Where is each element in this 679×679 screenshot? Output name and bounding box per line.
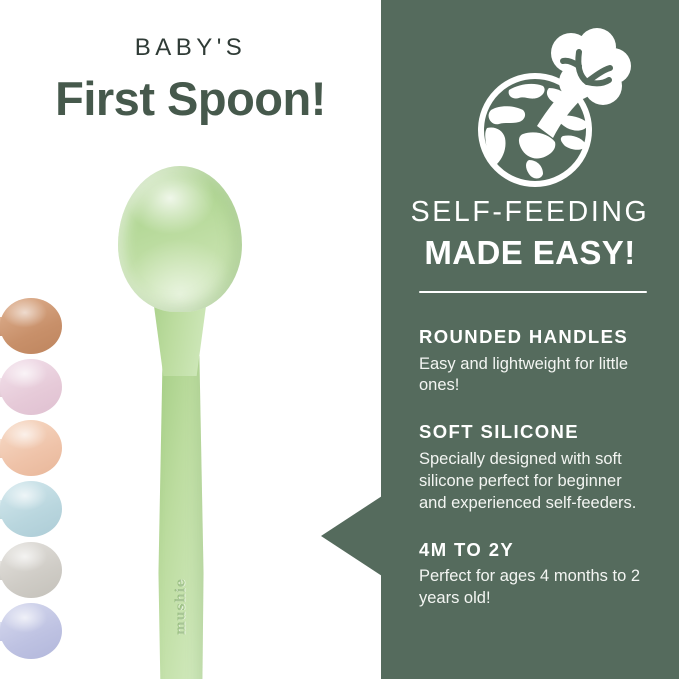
color-swatch-spoon <box>0 481 62 539</box>
feature-list: ROUNDED HANDLES Easy and lightweight for… <box>419 328 651 610</box>
left-panel: BABY'S First Spoon! <box>0 0 381 679</box>
globe-broccoli-icon <box>463 18 633 190</box>
color-swatch-spoon <box>0 542 62 600</box>
headline-block: BABY'S First Spoon! <box>0 36 381 125</box>
spoon-bowl-icon <box>0 359 62 415</box>
feature-item: 4M TO 2Y Perfect for ages 4 months to 2 … <box>419 541 651 610</box>
color-swatch-spoon <box>0 603 62 661</box>
color-swatch-spoon <box>0 420 62 478</box>
spoon-bowl <box>118 166 242 312</box>
brand-line-2: MADE EASY! <box>381 236 679 269</box>
spoon-bowl-icon <box>0 603 62 659</box>
spoon-bowl-icon <box>0 298 62 354</box>
feature-body: Perfect for ages 4 months to 2 years old… <box>419 566 651 610</box>
feature-title: ROUNDED HANDLES <box>419 328 651 347</box>
feature-body: Easy and lightweight for little ones! <box>419 354 651 398</box>
spoon-bowl-icon <box>0 481 62 537</box>
brand-heading: SELF-FEEDING MADE EASY! <box>381 198 679 269</box>
feature-title: 4M TO 2Y <box>419 541 651 560</box>
spoon-bowl-icon <box>0 420 62 476</box>
page-title: First Spoon! <box>0 74 381 125</box>
eyebrow-text: BABY'S <box>0 36 381 60</box>
spoon-bowl-icon <box>0 542 62 598</box>
color-swatch-rail <box>0 298 62 658</box>
product-infographic: BABY'S First Spoon! <box>0 0 679 679</box>
spoon-brand-emboss-text: mushie <box>174 579 189 636</box>
brand-line-1: SELF-FEEDING <box>381 198 679 227</box>
feature-title: SOFT SILICONE <box>419 423 651 442</box>
feature-body: Specially designed with soft silicone pe… <box>419 449 651 515</box>
feature-item: ROUNDED HANDLES Easy and lightweight for… <box>419 328 651 397</box>
color-swatch-spoon <box>0 359 62 417</box>
spoon-brand-emboss: mushie <box>156 542 206 672</box>
hero-spoon-image: mushie <box>118 166 244 679</box>
color-swatch-spoon <box>0 298 62 356</box>
feature-item: SOFT SILICONE Specially designed with so… <box>419 423 651 514</box>
divider <box>419 291 647 293</box>
